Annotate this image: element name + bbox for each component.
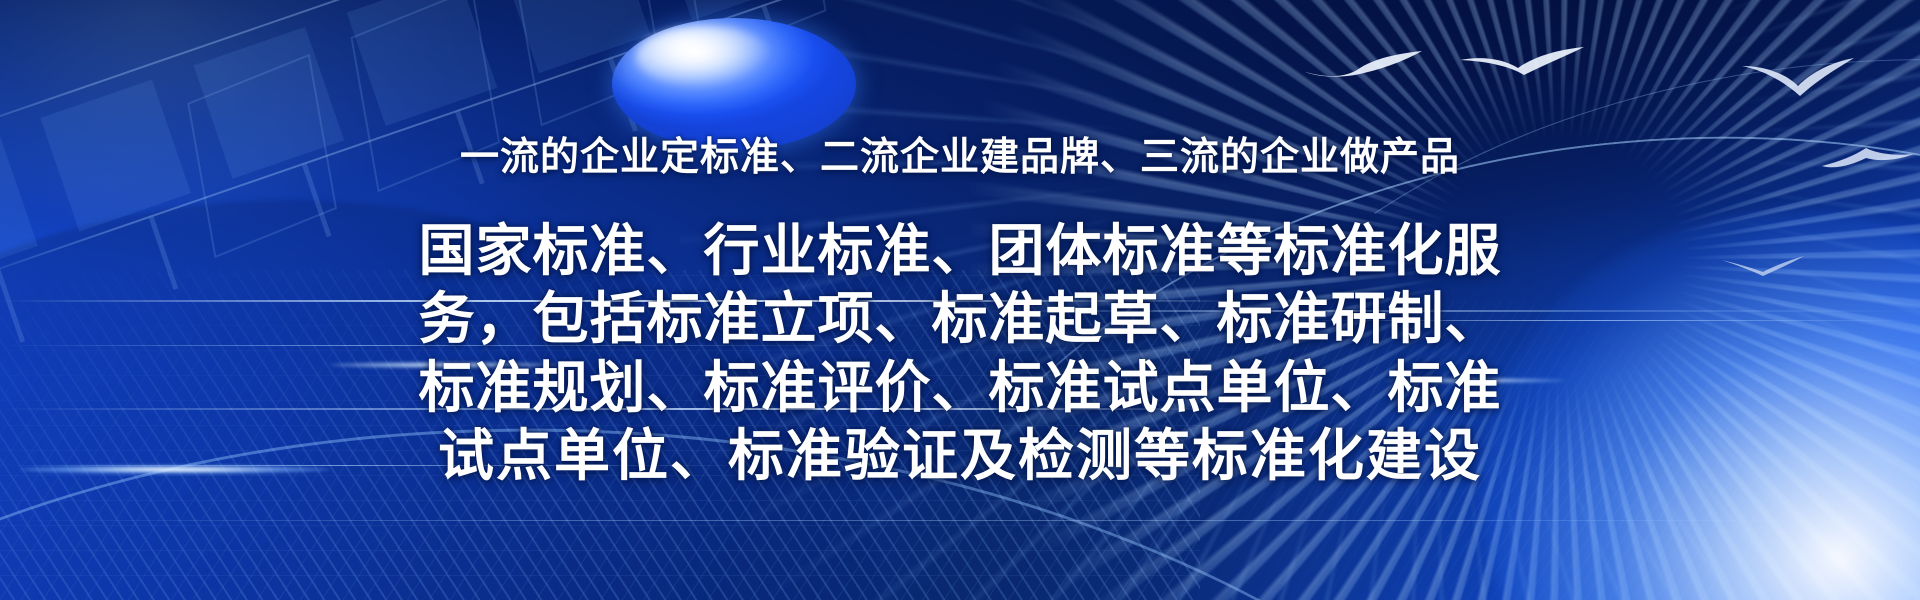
- banner-body-line: 务，包括标准立项、标准起草、标准研制、: [334, 285, 1586, 353]
- banner-body-line: 国家标准、行业标准、团体标准等标准化服: [334, 217, 1586, 285]
- banner-headline: 一流的企业定标准、二流企业建品牌、三流的企业做产品: [460, 138, 1460, 177]
- banner-body-line: 标准规划、标准评价、标准试点单位、标准: [334, 354, 1586, 422]
- banner-body-line: 试点单位、标准验证及检测等标准化建设: [334, 422, 1586, 490]
- banner-content: 一流的企业定标准、二流企业建品牌、三流的企业做产品 国家标准、行业标准、团体标准…: [0, 0, 1920, 600]
- promo-banner: 一流的企业定标准、二流企业建品牌、三流的企业做产品 国家标准、行业标准、团体标准…: [0, 0, 1920, 600]
- banner-body-text: 国家标准、行业标准、团体标准等标准化服 务，包括标准立项、标准起草、标准研制、 …: [334, 217, 1586, 490]
